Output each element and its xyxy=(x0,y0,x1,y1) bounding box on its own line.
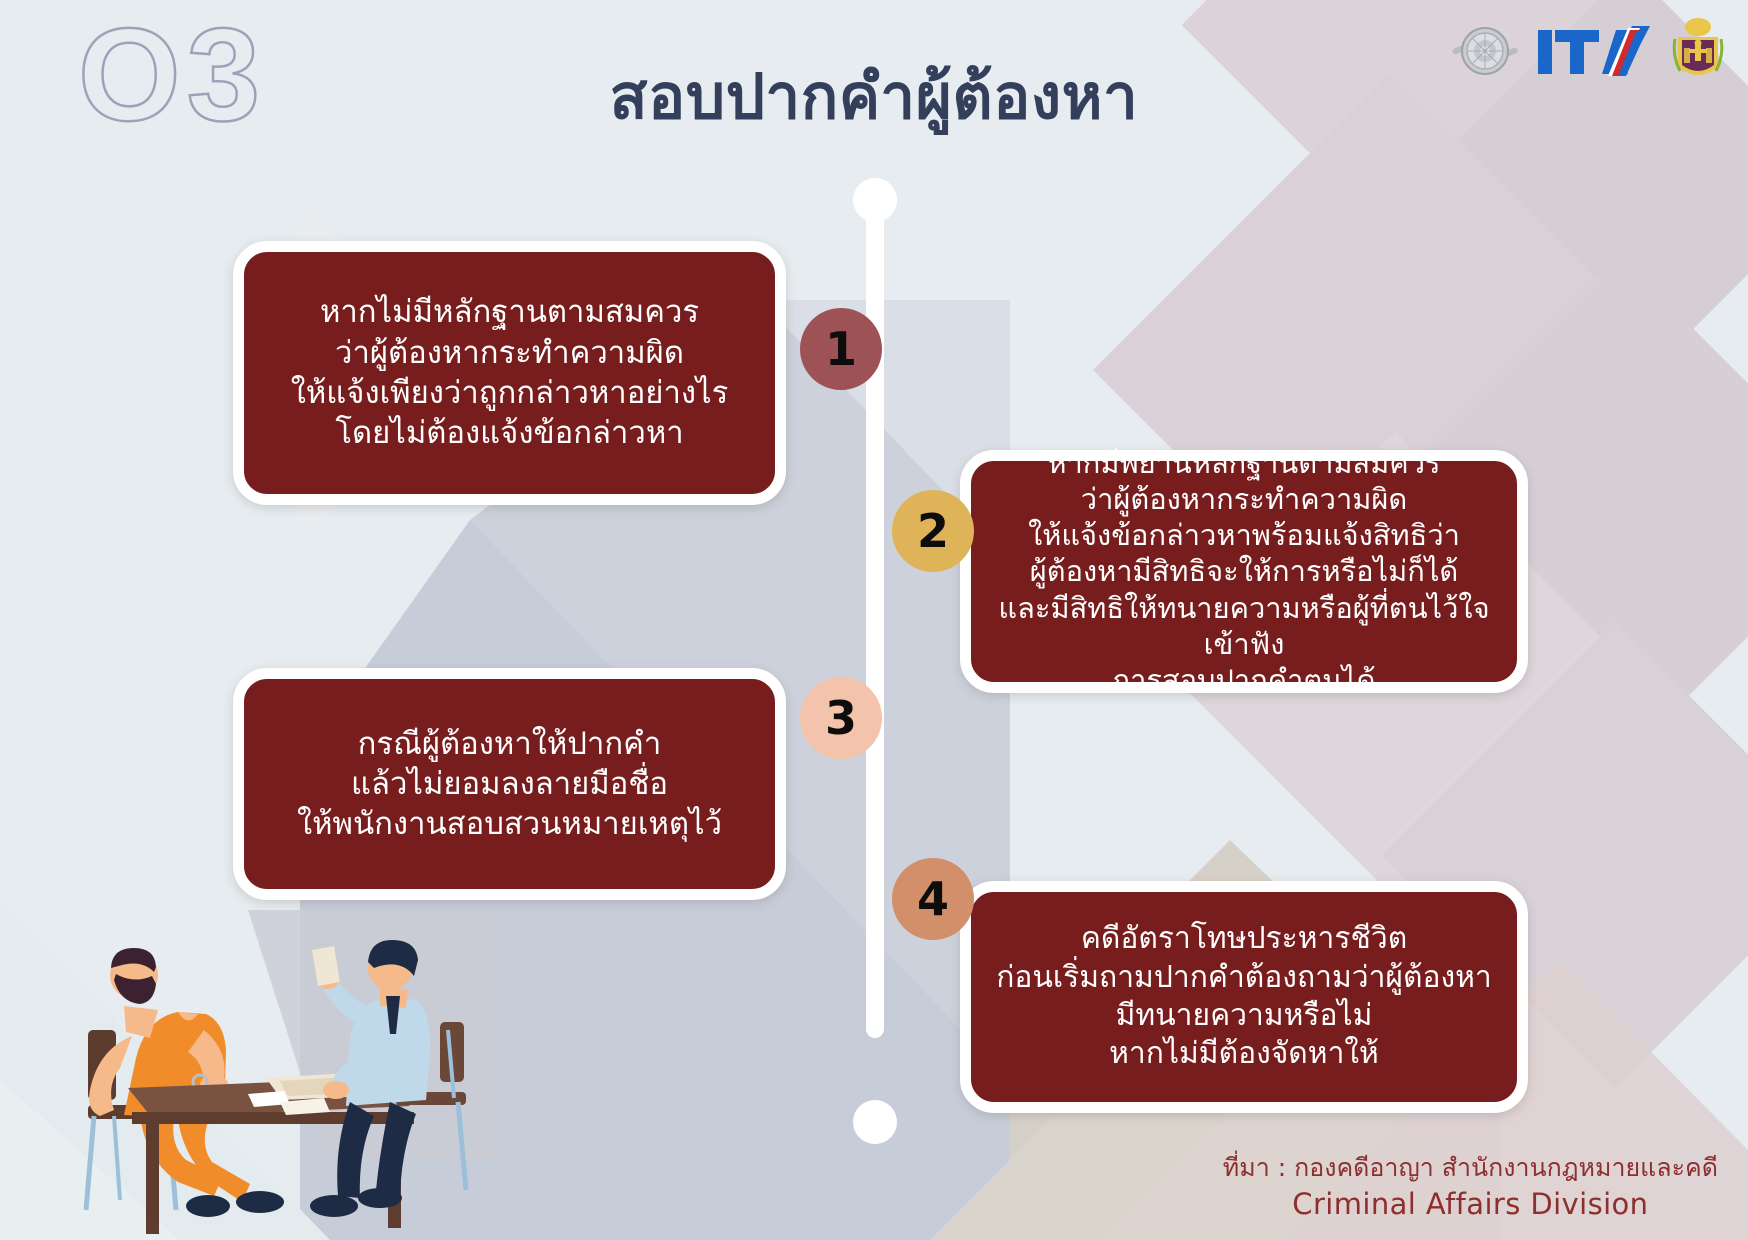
logo-group xyxy=(1448,12,1726,90)
timeline-end-node xyxy=(853,1100,897,1144)
royal-thai-police-crest-logo xyxy=(1670,15,1726,87)
step-badge-3[interactable]: 3 xyxy=(800,677,882,759)
step-badge-2[interactable]: 2 xyxy=(892,490,974,572)
source-thai: ที่มา : กองคดีอาญา สำนักงานกฎหมายและคดี xyxy=(1223,1151,1718,1185)
step-card-4-text: คดีอัตราโทษประหารชีวิต ก่อนเริ่มถามปากคำ… xyxy=(996,920,1492,1074)
source-attribution: ที่มา : กองคดีอาญา สำนักงานกฎหมายและคดี … xyxy=(1223,1151,1718,1224)
step-card-1-text: หากไม่มีหลักฐานตามสมควร ว่าผู้ต้องหากระท… xyxy=(291,292,729,453)
step-card-2-text: หากมีพยานหลักฐานตามสมควร ว่าผู้ต้องหากระ… xyxy=(993,445,1495,699)
step-card-1[interactable]: หากไม่มีหลักฐานตามสมควร ว่าผู้ต้องหากระท… xyxy=(233,241,786,505)
police-emblem-logo xyxy=(1448,15,1522,87)
step-card-4[interactable]: คดีอัตราโทษประหารชีวิต ก่อนเริ่มถามปากคำ… xyxy=(960,881,1528,1113)
step-badge-1[interactable]: 1 xyxy=(800,308,882,390)
source-english: Criminal Affairs Division xyxy=(1223,1185,1718,1224)
interrogation-illustration xyxy=(28,910,498,1240)
step-card-2[interactable]: หากมีพยานหลักฐานตามสมควร ว่าผู้ต้องหากระ… xyxy=(960,450,1528,693)
infographic-slide: O3 สอบปากคำผู้ต้องหา xyxy=(0,0,1748,1240)
step-card-3-text: กรณีผู้ต้องหาให้ปากคำ แล้วไม่ยอมลงลายมือ… xyxy=(297,724,722,845)
ita-logo xyxy=(1536,15,1656,87)
timeline-start-node xyxy=(853,178,897,222)
step-card-3[interactable]: กรณีผู้ต้องหาให้ปากคำ แล้วไม่ยอมลงลายมือ… xyxy=(233,668,786,900)
step-badge-4[interactable]: 4 xyxy=(892,858,974,940)
